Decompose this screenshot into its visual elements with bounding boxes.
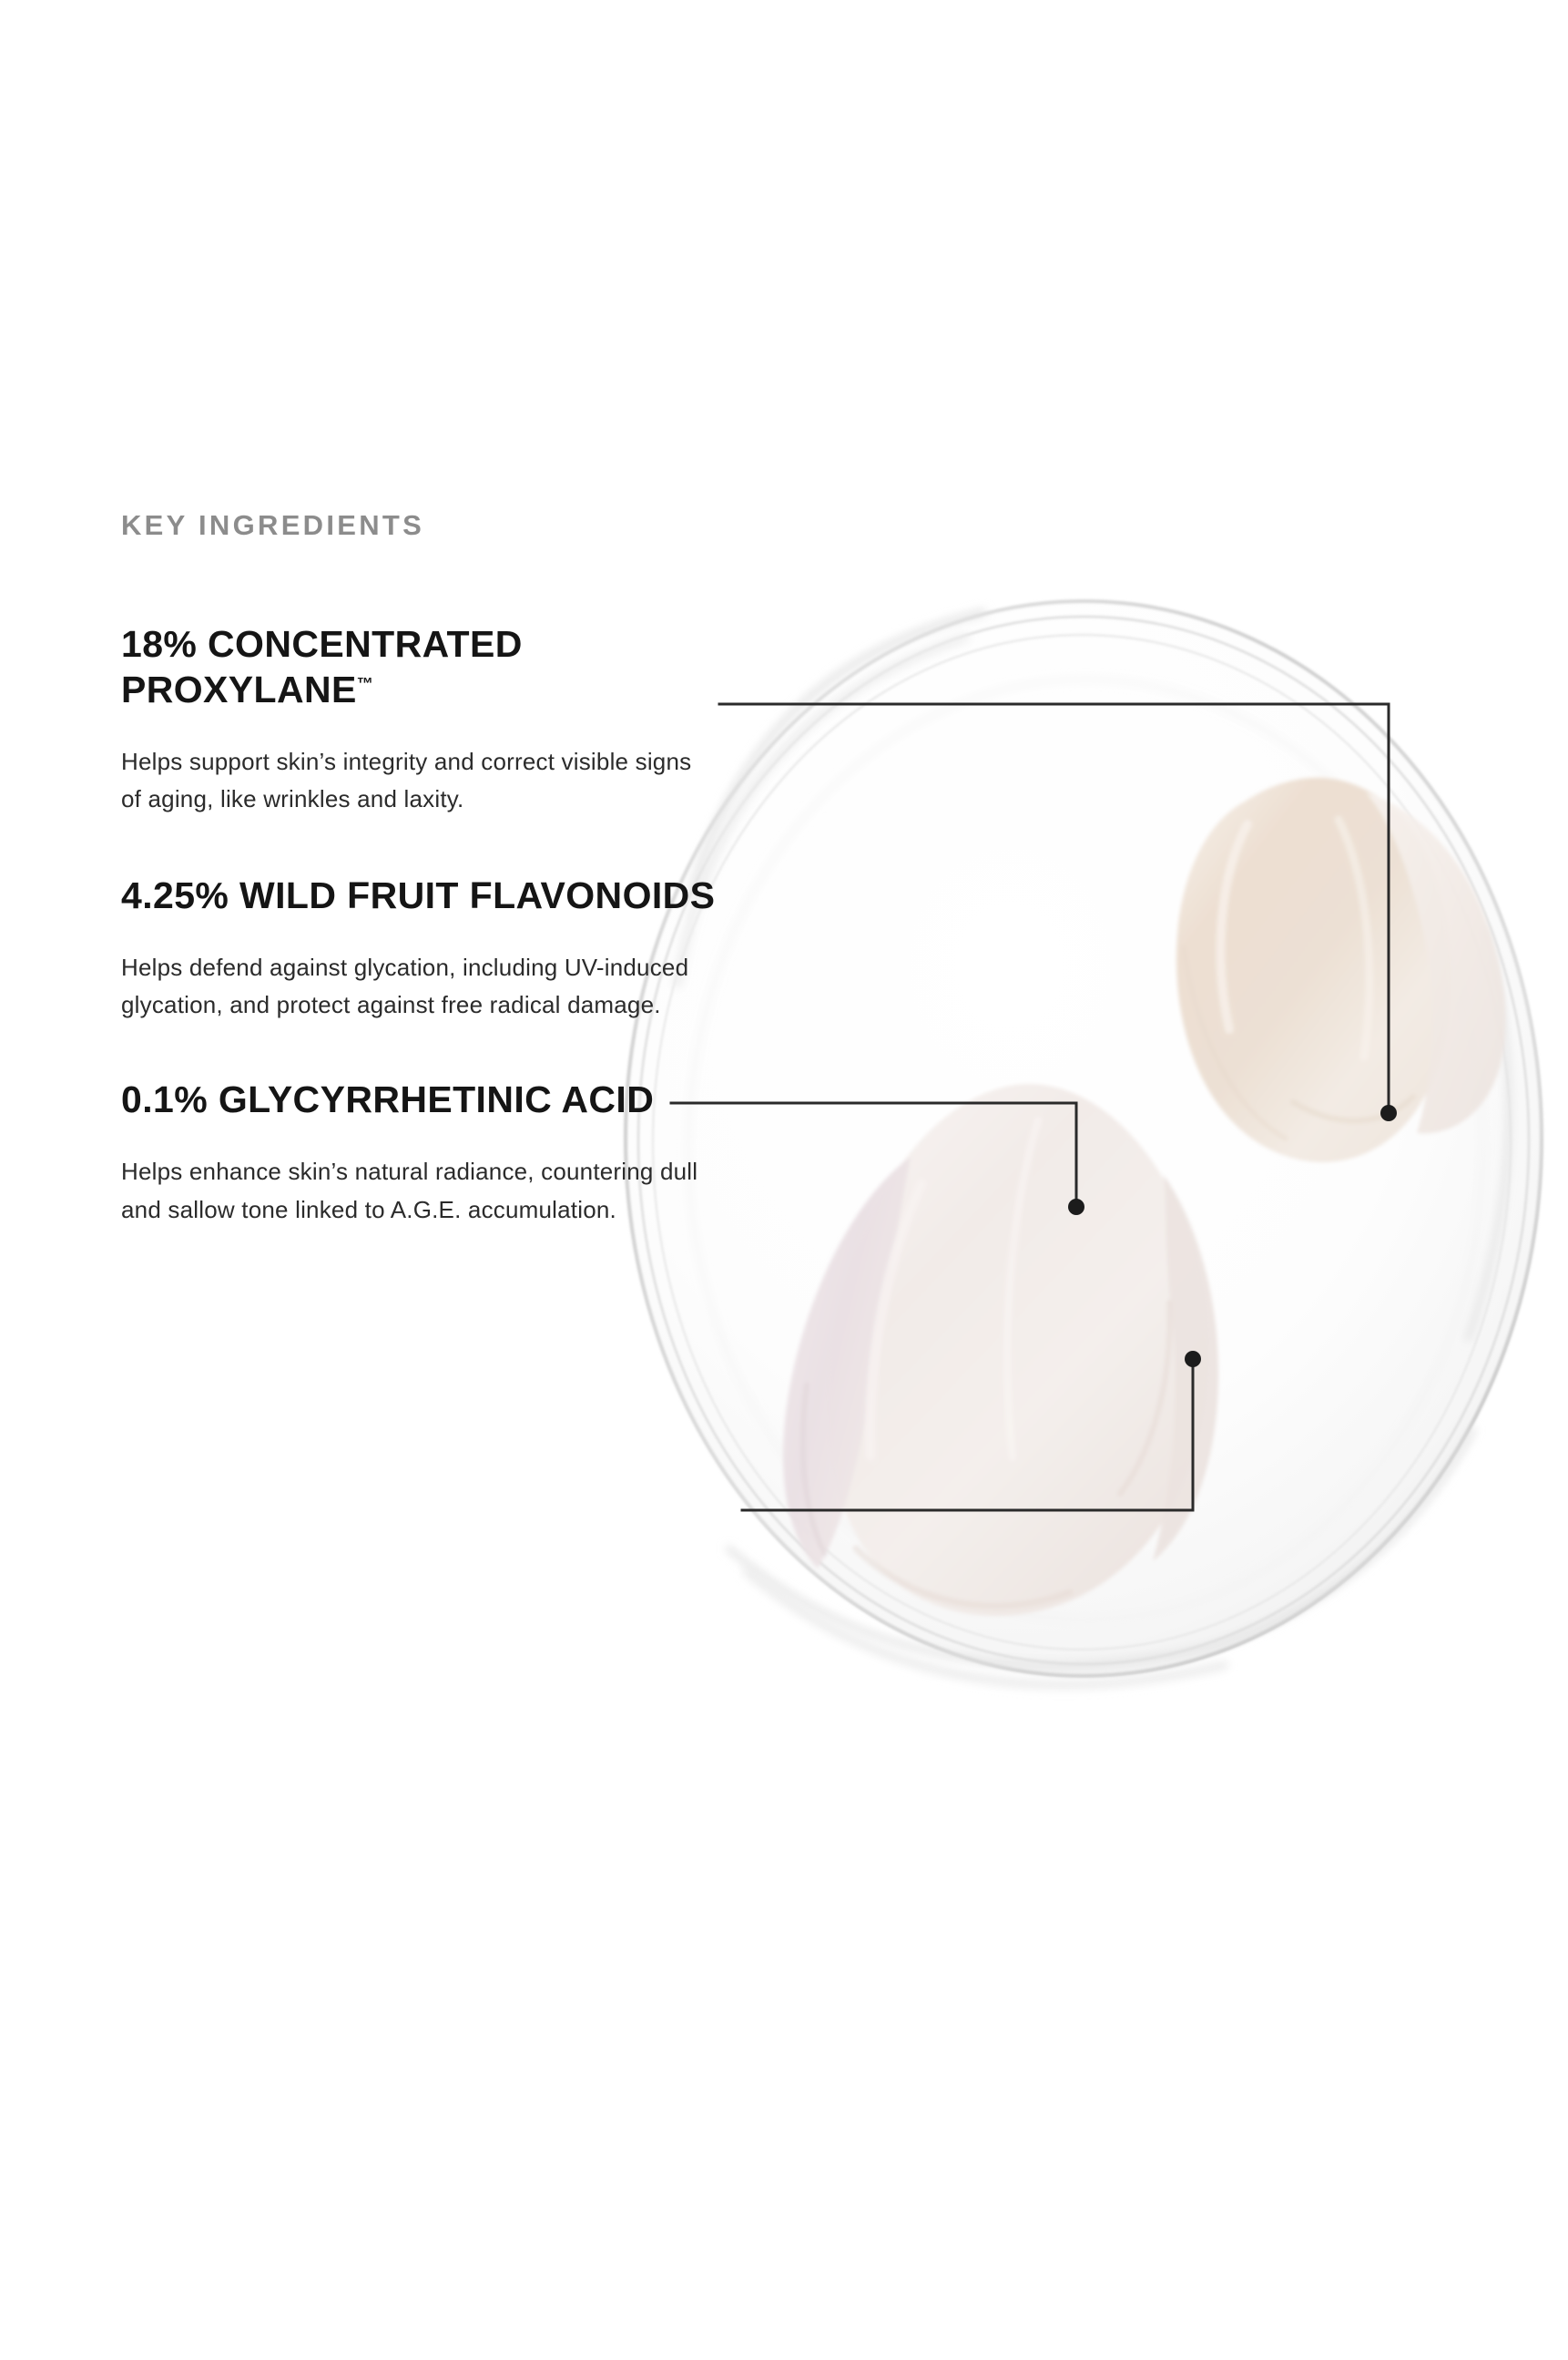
- ingredient-title-3: 0.1% GLYCYRRHETINIC ACID: [121, 1077, 722, 1122]
- ingredient-title-1: 18% CONCENTRATED PROXYLANE™: [121, 621, 722, 712]
- leader-line-ingredient-1: [719, 704, 1397, 1121]
- ingredient-description-1: Helps support skin’s integrity and corre…: [121, 743, 704, 818]
- leader-line-ingredient-3: [742, 1351, 1201, 1510]
- page-title: KEY INGREDIENTS: [121, 510, 777, 541]
- ingredients-text-column: KEY INGREDIENTS 18% CONCENTRATED PROXYLA…: [121, 510, 777, 1229]
- leader-dot-ingredient-1: [1380, 1105, 1397, 1121]
- ingredient-title-2: 4.25% WILD FRUIT FLAVONOIDS: [121, 873, 722, 918]
- leader-dot-ingredient-3: [1185, 1351, 1201, 1367]
- ingredient-item-2: 4.25% WILD FRUIT FLAVONOIDS Helps defend…: [121, 873, 777, 1024]
- ingredient-title-text-2: 4.25% WILD FRUIT FLAVONOIDS: [121, 874, 715, 916]
- leader-dot-ingredient-2: [1068, 1199, 1084, 1215]
- ingredient-title-text-3: 0.1% GLYCYRRHETINIC ACID: [121, 1078, 654, 1120]
- ingredient-item-3: 0.1% GLYCYRRHETINIC ACID Helps enhance s…: [121, 1077, 777, 1228]
- cream-swatch-cool: [783, 1084, 1218, 1616]
- ingredient-description-3: Helps enhance skin’s natural radiance, c…: [121, 1153, 704, 1228]
- key-ingredients-panel: KEY INGREDIENTS 18% CONCENTRATED PROXYLA…: [0, 0, 1568, 2360]
- ingredient-title-text-1: 18% CONCENTRATED PROXYLANE: [121, 623, 523, 710]
- ingredient-item-1: 18% CONCENTRATED PROXYLANE™ Helps suppor…: [121, 621, 777, 818]
- ingredient-description-2: Helps defend against glycation, includin…: [121, 949, 704, 1024]
- trademark-icon: ™: [357, 674, 373, 692]
- cream-swatch-warm: [1176, 778, 1506, 1162]
